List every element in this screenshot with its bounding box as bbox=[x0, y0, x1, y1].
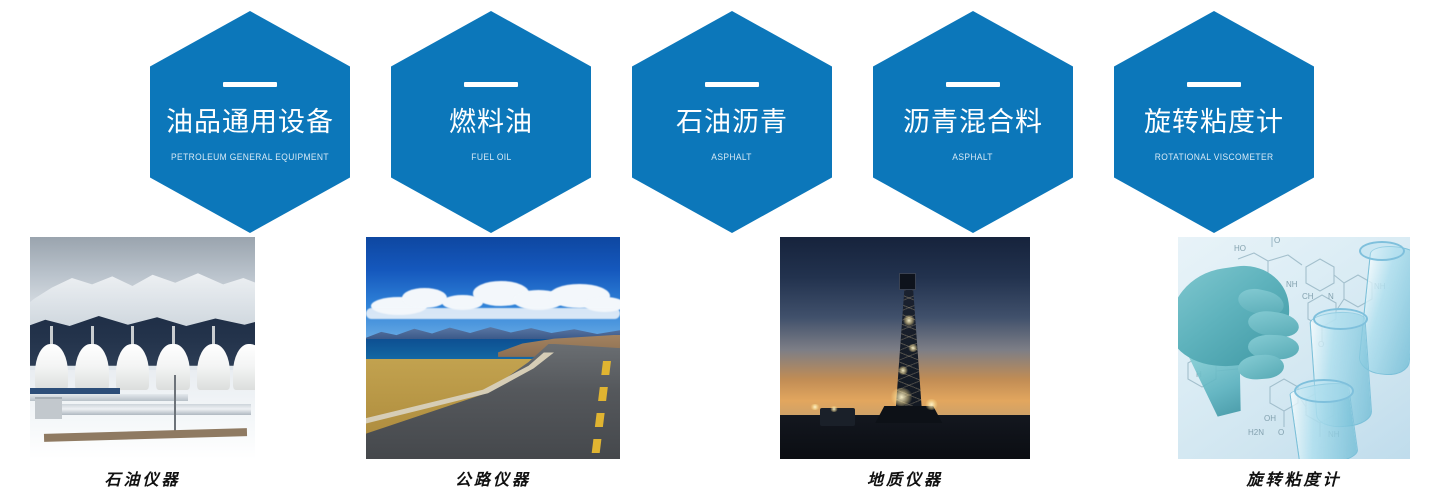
category-title-cn: 燃料油 bbox=[449, 107, 533, 137]
snowy-refinery-scene bbox=[30, 237, 255, 459]
category-title-cn: 沥青混合料 bbox=[903, 107, 1043, 137]
gallery-caption-petroleum-instruments: 石油仪器 bbox=[30, 466, 255, 490]
category-hex-fuel-oil[interactable]: 燃料油 FUEL OIL bbox=[391, 11, 591, 233]
category-title-cn: 旋转粘度计 bbox=[1144, 107, 1284, 137]
drilling-rig-dusk-scene bbox=[780, 237, 1030, 459]
gallery-caption-geological-instruments: 地质仪器 bbox=[780, 466, 1030, 490]
category-hex-rotational-viscometer[interactable]: 旋转粘度计 ROTATIONAL VISCOMETER bbox=[1114, 11, 1314, 233]
laboratory-chemistry-scene: HO NH NH CH N O O N H H2N O NH OH bbox=[1178, 237, 1410, 459]
highway-lake-scene bbox=[366, 237, 620, 459]
category-title-en: ROTATIONAL VISCOMETER bbox=[1155, 152, 1274, 162]
category-hex-petroleum-general-equipment[interactable]: 油品通用设备 PETROLEUM GENERAL EQUIPMENT bbox=[150, 11, 350, 233]
divider-rule bbox=[946, 82, 1000, 87]
gallery-photo-petroleum-instruments[interactable] bbox=[30, 237, 255, 459]
svg-text:HO: HO bbox=[1234, 244, 1246, 253]
divider-rule bbox=[223, 82, 277, 87]
divider-rule bbox=[705, 82, 759, 87]
category-title-en: PETROLEUM GENERAL EQUIPMENT bbox=[171, 152, 329, 162]
category-title-en: FUEL OIL bbox=[471, 152, 511, 162]
svg-text:OH: OH bbox=[1264, 414, 1276, 423]
gallery-photo-rotational-viscometer[interactable]: HO NH NH CH N O O N H H2N O NH OH bbox=[1178, 237, 1410, 459]
svg-text:H2N: H2N bbox=[1248, 428, 1264, 437]
category-hex-asphalt-mixture[interactable]: 沥青混合料 ASPHALT bbox=[873, 11, 1073, 233]
svg-text:CH: CH bbox=[1302, 292, 1314, 301]
gallery-photo-highway-instruments[interactable] bbox=[366, 237, 620, 459]
svg-text:NH: NH bbox=[1286, 280, 1298, 289]
gallery-photo-geological-instruments[interactable] bbox=[780, 237, 1030, 459]
category-hex-asphalt[interactable]: 石油沥青 ASPHALT bbox=[632, 11, 832, 233]
svg-text:N: N bbox=[1328, 292, 1334, 301]
category-title-en: ASPHALT bbox=[953, 152, 994, 162]
svg-text:O: O bbox=[1278, 428, 1284, 437]
product-category-showcase: 油品通用设备 PETROLEUM GENERAL EQUIPMENT 燃料油 F… bbox=[0, 0, 1440, 500]
svg-text:O: O bbox=[1274, 237, 1280, 245]
category-title-cn: 石油沥青 bbox=[676, 107, 788, 137]
gallery-caption-highway-instruments: 公路仪器 bbox=[366, 466, 620, 490]
divider-rule bbox=[1187, 82, 1241, 87]
category-title-cn: 油品通用设备 bbox=[166, 107, 334, 137]
category-title-en: ASPHALT bbox=[712, 152, 753, 162]
divider-rule bbox=[464, 82, 518, 87]
gallery-caption-rotational-viscometer: 旋转粘度计 bbox=[1178, 466, 1410, 490]
